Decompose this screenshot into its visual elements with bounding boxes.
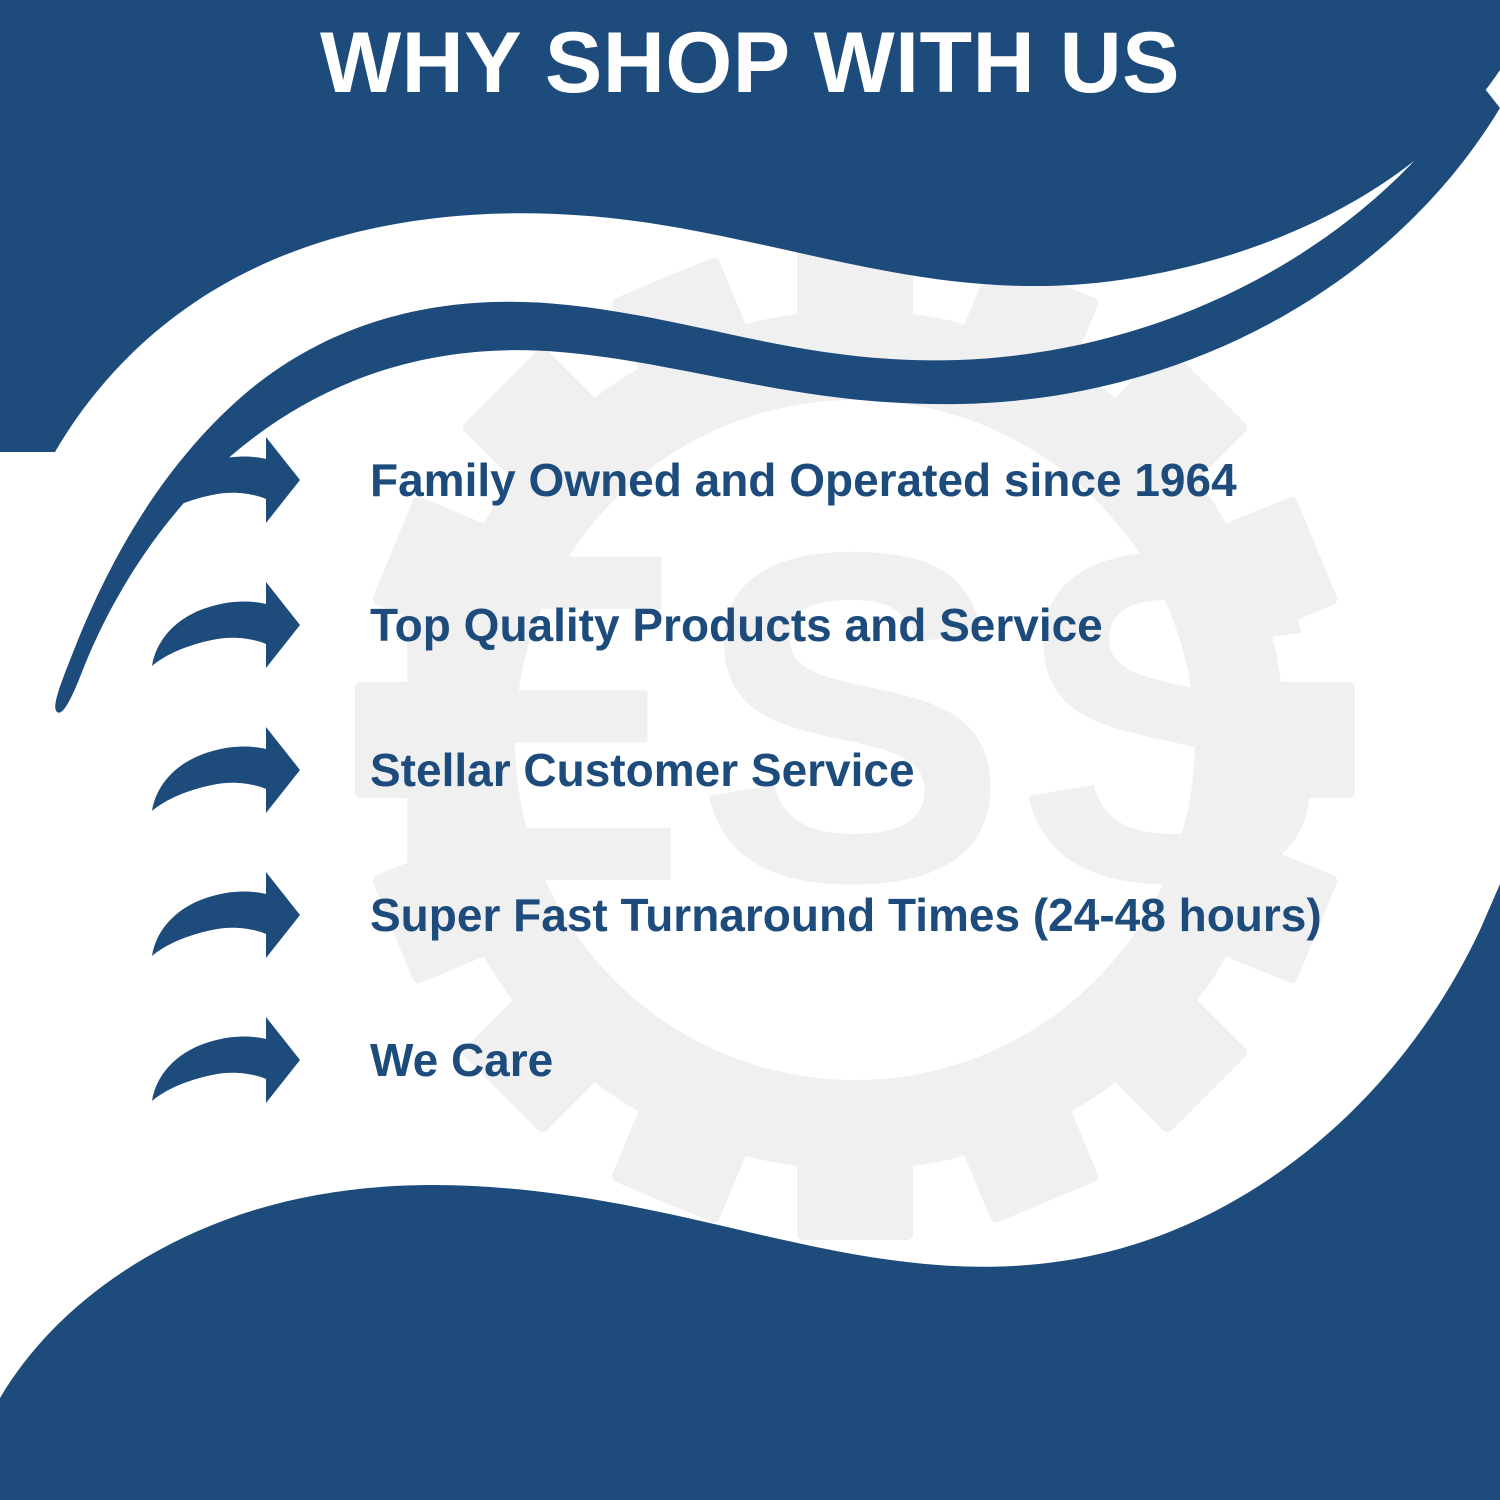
benefit-label: Family Owned and Operated since 1964 [370,455,1440,506]
curved-arrow-right-icon [150,1017,302,1103]
list-item: Super Fast Turnaround Times (24-48 hours… [150,867,1440,963]
curved-arrow-right-icon [150,727,302,813]
benefit-label: Stellar Customer Service [370,745,1440,796]
list-item: Top Quality Products and Service [150,577,1440,673]
list-item: We Care [150,1012,1440,1108]
page-title-container: WHY SHOP WITH US [0,18,1500,108]
list-item: Family Owned and Operated since 1964 [150,432,1440,528]
benefit-label: Top Quality Products and Service [370,600,1440,651]
page-title: WHY SHOP WITH US [0,18,1500,108]
benefit-label: We Care [370,1035,1440,1086]
list-item: Stellar Customer Service [150,722,1440,818]
curved-arrow-right-icon [150,582,302,668]
curved-arrow-right-icon [150,437,302,523]
why-shop-with-us-poster: ESS WHY SHOP WITH US Family Owned and Op… [0,0,1500,1500]
benefit-label: Super Fast Turnaround Times (24-48 hours… [370,890,1440,941]
curved-arrow-right-icon [150,872,302,958]
benefits-list: Family Owned and Operated since 1964 Top… [150,432,1440,1108]
